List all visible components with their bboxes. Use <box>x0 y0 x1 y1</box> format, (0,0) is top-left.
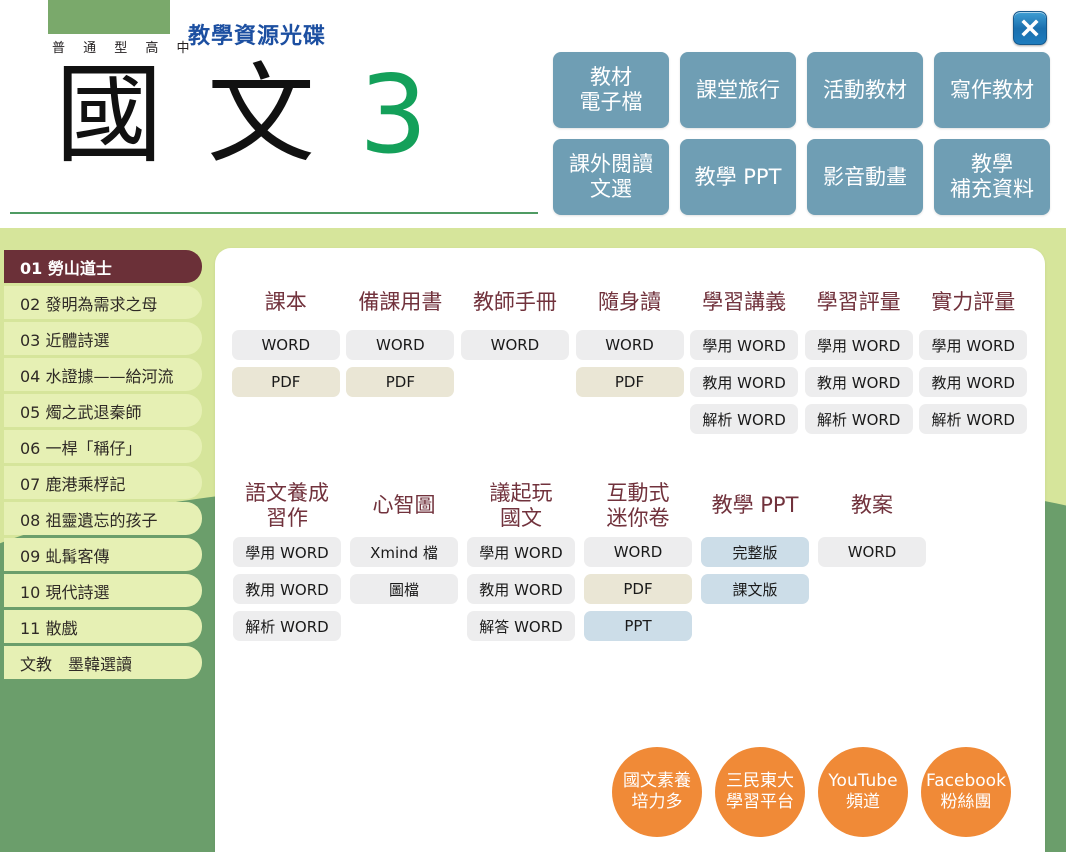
resource-chip-word[interactable]: 教用 WORD <box>467 574 575 604</box>
resource-chip-word[interactable]: 教用 WORD <box>690 367 798 397</box>
resource-column: 學習評量學用 WORD教用 WORD解析 WORD <box>802 276 916 441</box>
sidebar-item-9[interactable]: 09 虬髯客傳 <box>4 538 202 571</box>
resource-chip-ppt[interactable]: PPT <box>584 611 692 641</box>
topnav-button-7[interactable]: 影音動畫 <box>807 139 923 215</box>
resource-column: 心智圖Xmind 檔圖檔 <box>346 475 462 648</box>
resource-chip-pdf[interactable]: PDF <box>232 367 340 397</box>
resource-chip-word[interactable]: 學用 WORD <box>233 537 341 567</box>
brand-block: 普 通 型 高 中 <box>48 0 197 56</box>
resource-column: 隨身讀WORDPDF <box>573 276 687 441</box>
footer-circle-link-2[interactable]: 三民東大 學習平台 <box>715 747 805 837</box>
resource-column: 備課用書WORDPDF <box>344 276 458 441</box>
topnav-button-8[interactable]: 教學 補充資料 <box>934 139 1050 215</box>
sidebar-item-6[interactable]: 06 一桿「稱仔」 <box>4 430 202 463</box>
sidebar-item-11[interactable]: 11 散戲 <box>4 610 202 643</box>
resource-chip-placeholder <box>818 574 926 604</box>
resource-chip-word[interactable]: 學用 WORD <box>690 330 798 360</box>
topnav-button-6[interactable]: 教學 PPT <box>680 139 796 215</box>
resource-column: 議起玩 國文學用 WORD教用 WORD解答 WORD <box>463 475 579 648</box>
resource-chip-word[interactable]: 教用 WORD <box>805 367 913 397</box>
topnav-button-3[interactable]: 活動教材 <box>807 52 923 128</box>
sidebar-item-10[interactable]: 10 現代詩選 <box>4 574 202 607</box>
resource-chip-word[interactable]: 解析 WORD <box>690 404 798 434</box>
subject-title: 國 文 3 <box>55 62 428 170</box>
resource-column: 課本WORDPDF <box>229 276 343 441</box>
app-title: 教學資源光碟 <box>188 18 326 50</box>
resource-column-title: 學習講義 <box>702 276 786 330</box>
resource-chip-word[interactable]: 學用 WORD <box>919 330 1027 360</box>
resource-column: 教案WORD <box>814 475 930 648</box>
resource-chip-word[interactable]: WORD <box>346 330 454 360</box>
resource-chip-word[interactable]: WORD <box>232 330 340 360</box>
top-nav-grid: 教材 電子檔課堂旅行活動教材寫作教材課外閱讀 文選教學 PPT影音動畫教學 補充… <box>553 52 1050 215</box>
resource-chip-word[interactable]: WORD <box>461 330 569 360</box>
resource-chip-word[interactable]: WORD <box>576 330 684 360</box>
sidebar-item-7[interactable]: 07 鹿港乘桴記 <box>4 466 202 499</box>
resource-column-title: 議起玩 國文 <box>490 475 553 537</box>
resource-column-title: 備課用書 <box>358 276 442 330</box>
resource-chip-word[interactable]: 學用 WORD <box>467 537 575 567</box>
brand-color-swatch <box>48 0 170 34</box>
header-divider <box>10 212 538 214</box>
resource-chip-pdf[interactable]: PDF <box>346 367 454 397</box>
subject-volume-number: 3 <box>359 62 428 170</box>
resource-column: 實力評量學用 WORD教用 WORD解析 WORD <box>916 276 1030 441</box>
resource-column-title: 心智圖 <box>373 475 436 537</box>
page-header: 普 通 型 高 中 教學資源光碟 國 文 3 教材 電子檔課堂旅行活動教材寫作教… <box>0 0 1066 228</box>
resource-disc-app: 普 通 型 高 中 教學資源光碟 國 文 3 教材 電子檔課堂旅行活動教材寫作教… <box>0 0 1066 852</box>
resource-column: 語文養成 習作學用 WORD教用 WORD解析 WORD <box>229 475 345 648</box>
sidebar-item-5[interactable]: 05 燭之武退秦師 <box>4 394 202 427</box>
resource-chip-word[interactable]: 教用 WORD <box>919 367 1027 397</box>
resource-chip-word[interactable]: WORD <box>818 537 926 567</box>
resource-chip-placeholder <box>346 404 454 434</box>
resource-chip-placeholder <box>701 611 809 641</box>
resource-column-title: 語文養成 習作 <box>245 475 329 537</box>
resource-chip-placeholder <box>461 404 569 434</box>
resource-chip-word[interactable]: Xmind 檔 <box>350 537 458 567</box>
resource-chip-pdf[interactable]: PDF <box>584 574 692 604</box>
topnav-button-2[interactable]: 課堂旅行 <box>680 52 796 128</box>
resource-row-1: 課本WORDPDF備課用書WORDPDF教師手冊WORD隨身讀WORDPDF學習… <box>229 276 1031 441</box>
resource-chip-placeholder <box>232 404 340 434</box>
resource-chip-word[interactable]: 解析 WORD <box>919 404 1027 434</box>
resource-column-title: 課本 <box>265 276 307 330</box>
sidebar-item-12[interactable]: 文教 墨韓選讀 <box>4 646 202 679</box>
resource-chip-pdf[interactable]: PDF <box>576 367 684 397</box>
topnav-button-1[interactable]: 教材 電子檔 <box>553 52 669 128</box>
resource-chip-placeholder <box>576 404 684 434</box>
footer-circle-link-4[interactable]: Facebook 粉絲團 <box>921 747 1011 837</box>
footer-link-circles: 國文素養 培力多三民東大 學習平台YouTube 頻道Facebook 粉絲團 <box>612 747 1011 837</box>
subject-char-1: 國 <box>55 62 163 170</box>
resource-column: 教師手冊WORD <box>458 276 572 441</box>
resource-column: 互動式 迷你卷WORDPDFPPT <box>580 475 696 648</box>
subject-char-2: 文 <box>207 62 315 170</box>
resource-column-title: 教案 <box>851 475 893 537</box>
resource-column-title: 隨身讀 <box>598 276 661 330</box>
resource-chip-word[interactable]: 教用 WORD <box>233 574 341 604</box>
resource-chip-word[interactable]: 解析 WORD <box>805 404 913 434</box>
resource-chip-word[interactable]: 解答 WORD <box>467 611 575 641</box>
footer-circle-link-1[interactable]: 國文素養 培力多 <box>612 747 702 837</box>
resource-column-title: 互動式 迷你卷 <box>607 475 670 537</box>
resource-chip-word[interactable]: 圖檔 <box>350 574 458 604</box>
resource-chip-word[interactable]: 解析 WORD <box>233 611 341 641</box>
resource-chip-placeholder <box>350 611 458 641</box>
lesson-sidebar: 01 勞山道士02 發明為需求之母03 近體詩選04 水證據——給河流05 燭之… <box>0 228 206 682</box>
resource-chip-word[interactable]: 學用 WORD <box>805 330 913 360</box>
sidebar-item-4[interactable]: 04 水證據——給河流 <box>4 358 202 391</box>
resource-chip-ppt[interactable]: 完整版 <box>701 537 809 567</box>
close-icon[interactable] <box>1013 11 1047 45</box>
sidebar-item-8[interactable]: 08 祖靈遺忘的孩子 <box>4 502 202 535</box>
footer-circle-link-3[interactable]: YouTube 頻道 <box>818 747 908 837</box>
resource-column-title: 教學 PPT <box>712 475 799 537</box>
resource-chip-word[interactable]: WORD <box>584 537 692 567</box>
topnav-button-4[interactable]: 寫作教材 <box>934 52 1050 128</box>
resource-chip-placeholder <box>818 611 926 641</box>
sidebar-item-2[interactable]: 02 發明為需求之母 <box>4 286 202 319</box>
topnav-button-5[interactable]: 課外閱讀 文選 <box>553 139 669 215</box>
resource-column-title: 教師手冊 <box>473 276 557 330</box>
resource-row-2: 語文養成 習作學用 WORD教用 WORD解析 WORD心智圖Xmind 檔圖檔… <box>229 475 1031 648</box>
resource-chip-placeholder <box>461 367 569 397</box>
resource-column-title: 實力評量 <box>931 276 1015 330</box>
resource-column: 教學 PPT完整版課文版 <box>697 475 813 648</box>
sidebar-item-3[interactable]: 03 近體詩選 <box>4 322 202 355</box>
resource-column-title: 學習評量 <box>817 276 901 330</box>
sidebar-item-1[interactable]: 01 勞山道士 <box>4 250 202 283</box>
resource-column: 學習講義學用 WORD教用 WORD解析 WORD <box>687 276 801 441</box>
resource-chip-ppt[interactable]: 課文版 <box>701 574 809 604</box>
